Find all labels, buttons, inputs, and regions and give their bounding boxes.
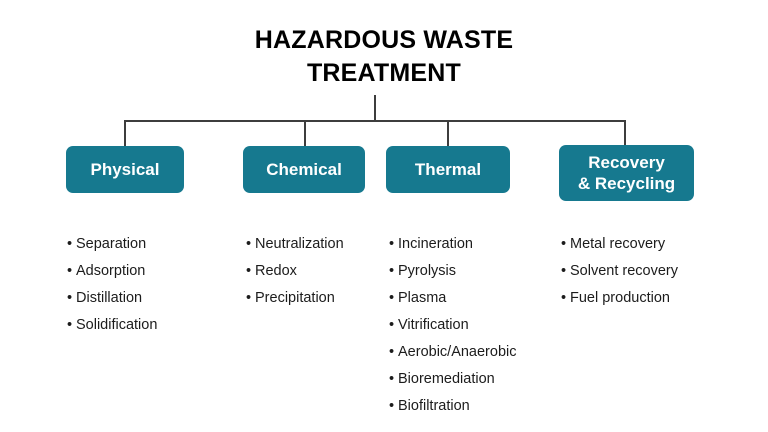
list-item: • Redox bbox=[246, 258, 344, 285]
bullet-icon: • bbox=[389, 393, 398, 420]
category-box-physical[interactable]: Physical bbox=[66, 146, 184, 193]
list-item-label: Redox bbox=[255, 258, 297, 285]
list-item: • Fuel production bbox=[561, 285, 678, 312]
bullet-icon: • bbox=[561, 231, 570, 258]
category-box-thermal-label: Thermal bbox=[415, 159, 481, 180]
category-box-chemical[interactable]: Chemical bbox=[243, 146, 365, 193]
list-item: • Distillation bbox=[67, 285, 157, 312]
bullet-icon: • bbox=[561, 258, 570, 285]
diagram-title: HAZARDOUS WASTE TREATMENT bbox=[0, 24, 768, 90]
list-item: • Biofiltration bbox=[389, 393, 517, 420]
list-item: • Bioremediation bbox=[389, 366, 517, 393]
bullet-icon: • bbox=[246, 258, 255, 285]
connector-drop-chemical bbox=[304, 120, 306, 147]
connector-drop-thermal bbox=[447, 120, 449, 147]
bullet-icon: • bbox=[389, 339, 398, 366]
bullet-icon: • bbox=[246, 285, 255, 312]
category-box-physical-label: Physical bbox=[91, 159, 160, 180]
category-box-chemical-label: Chemical bbox=[266, 159, 342, 180]
list-item-label: Incineration bbox=[398, 231, 473, 258]
diagram-title-line-1: HAZARDOUS WASTE bbox=[0, 24, 768, 57]
bullet-icon: • bbox=[67, 258, 76, 285]
category-box-recovery-recycling-label-line-2: & Recycling bbox=[578, 173, 675, 194]
list-item: • Precipitation bbox=[246, 285, 344, 312]
list-item-label: Metal recovery bbox=[570, 231, 665, 258]
list-item: • Neutralization bbox=[246, 231, 344, 258]
connector-stem-vertical bbox=[374, 95, 376, 122]
bullet-icon: • bbox=[246, 231, 255, 258]
list-item-label: Solidification bbox=[76, 312, 157, 339]
list-item-label: Bioremediation bbox=[398, 366, 495, 393]
bullet-icon: • bbox=[561, 285, 570, 312]
list-item-label: Separation bbox=[76, 231, 146, 258]
connector-horizontal-bus bbox=[124, 120, 626, 122]
list-item-label: Precipitation bbox=[255, 285, 335, 312]
connector-drop-recovery-recycling bbox=[624, 120, 626, 146]
list-item: • Aerobic/Anaerobic bbox=[389, 339, 517, 366]
list-item-label: Biofiltration bbox=[398, 393, 470, 420]
bullet-icon: • bbox=[67, 285, 76, 312]
list-item: • Separation bbox=[67, 231, 157, 258]
list-item-label: Plasma bbox=[398, 285, 446, 312]
bullet-icon: • bbox=[389, 366, 398, 393]
category-box-recovery-recycling-label-line-1: Recovery bbox=[578, 152, 675, 173]
list-item: • Solvent recovery bbox=[561, 258, 678, 285]
list-chemical: • Neutralization • Redox • Precipitation bbox=[246, 231, 344, 312]
list-item-label: Distillation bbox=[76, 285, 142, 312]
list-item-label: Pyrolysis bbox=[398, 258, 456, 285]
list-item-label: Vitrification bbox=[398, 312, 469, 339]
list-item: • Metal recovery bbox=[561, 231, 678, 258]
list-physical: • Separation • Adsorption • Distillation… bbox=[67, 231, 157, 339]
diagram-title-line-2: TREATMENT bbox=[0, 57, 768, 90]
list-item: • Vitrification bbox=[389, 312, 517, 339]
list-item-label: Aerobic/Anaerobic bbox=[398, 339, 517, 366]
list-item: • Solidification bbox=[67, 312, 157, 339]
list-item-label: Solvent recovery bbox=[570, 258, 678, 285]
connector-drop-physical bbox=[124, 120, 126, 147]
bullet-icon: • bbox=[67, 312, 76, 339]
list-item: • Pyrolysis bbox=[389, 258, 517, 285]
bullet-icon: • bbox=[67, 231, 76, 258]
list-item-label: Adsorption bbox=[76, 258, 145, 285]
list-thermal: • Incineration • Pyrolysis • Plasma • Vi… bbox=[389, 231, 517, 420]
hazardous-waste-treatment-diagram: HAZARDOUS WASTE TREATMENT Physical Chemi… bbox=[0, 0, 768, 432]
list-item-label: Fuel production bbox=[570, 285, 670, 312]
bullet-icon: • bbox=[389, 258, 398, 285]
bullet-icon: • bbox=[389, 312, 398, 339]
list-recovery-recycling: • Metal recovery • Solvent recovery • Fu… bbox=[561, 231, 678, 312]
bullet-icon: • bbox=[389, 285, 398, 312]
list-item: • Plasma bbox=[389, 285, 517, 312]
list-item: • Adsorption bbox=[67, 258, 157, 285]
list-item: • Incineration bbox=[389, 231, 517, 258]
category-box-thermal[interactable]: Thermal bbox=[386, 146, 510, 193]
list-item-label: Neutralization bbox=[255, 231, 344, 258]
category-box-recovery-recycling[interactable]: Recovery & Recycling bbox=[559, 145, 694, 201]
bullet-icon: • bbox=[389, 231, 398, 258]
